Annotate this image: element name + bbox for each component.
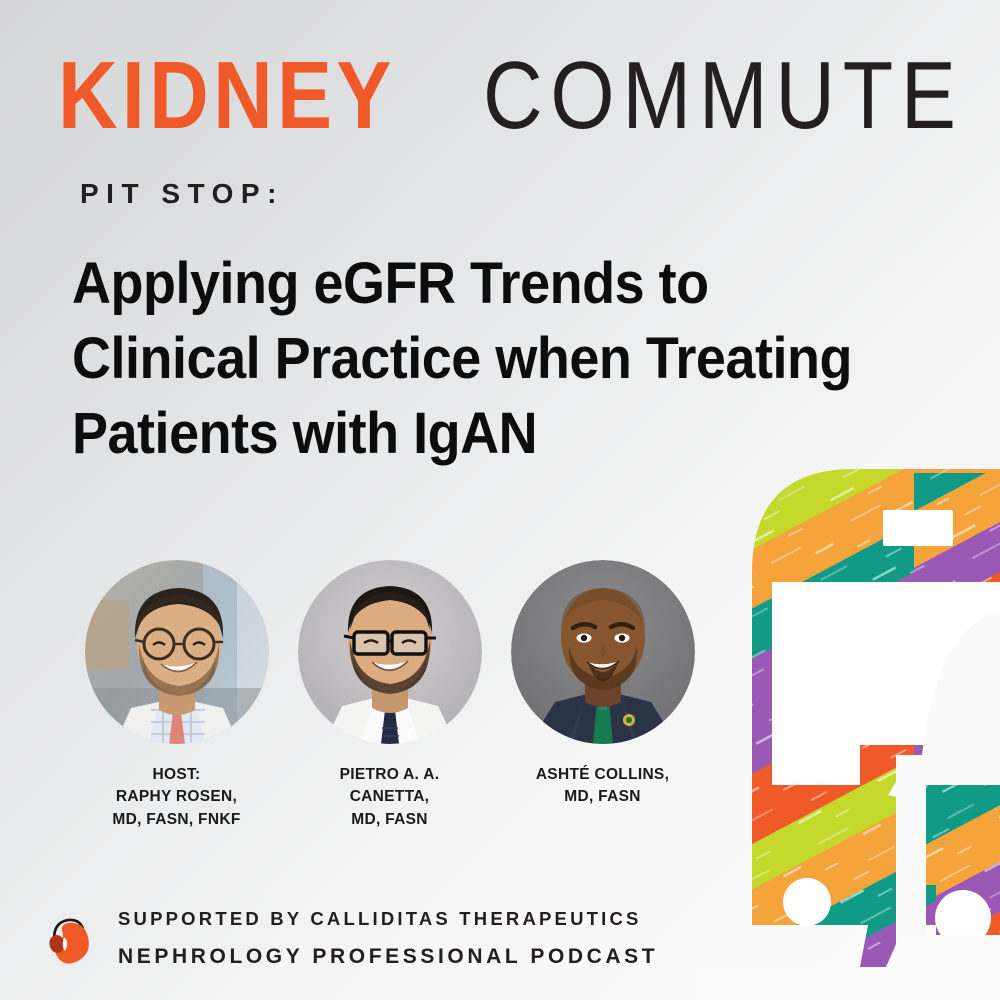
episode-title-line-1: Applying eGFR Trends to <box>72 247 909 322</box>
kidney-headphones-icon <box>40 909 102 971</box>
footer-tagline: NEPHROLOGY PROFESSIONAL PODCAST <box>118 937 658 978</box>
striped-train-graphic <box>700 455 1000 1000</box>
brand-word-kidney: KIDNEY <box>58 48 396 144</box>
eyebrow-label: PIT STOP: <box>80 178 284 210</box>
footer-text-block: SUPPORTED BY CALLIDITAS THERAPEUTICS NEP… <box>118 901 658 978</box>
brand-logotype: KIDNEYCOMMUTE <box>58 48 958 144</box>
speaker-card-raphy-rosen: HOST: RAPHY ROSEN, MD, FASN, FNKF <box>70 560 283 831</box>
portrait-raphy-rosen <box>85 560 269 744</box>
portrait-ashte-collins <box>511 560 695 744</box>
speaker-list: HOST: RAPHY ROSEN, MD, FASN, FNKF <box>70 560 710 831</box>
speaker-card-pietro-canetta: PIETRO A. A. CANETTA, MD, FASN <box>283 560 496 831</box>
portrait-pietro-canetta <box>298 560 482 744</box>
footer-sponsor-line: SUPPORTED BY CALLIDITAS THERAPEUTICS <box>118 901 658 937</box>
train-destination-sign <box>883 510 953 546</box>
speaker-name-raphy-rosen: HOST: RAPHY ROSEN, MD, FASN, FNKF <box>70 764 283 831</box>
brand-word-commute: COMMUTE <box>483 48 964 144</box>
train-baseline <box>700 935 1000 1000</box>
speaker-name-ashte-collins: ASHTÉ COLLINS, MD, FASN <box>496 764 709 809</box>
speaker-name-pietro-canetta: PIETRO A. A. CANETTA, MD, FASN <box>283 764 496 831</box>
episode-title: Applying eGFR Trends to Clinical Practic… <box>72 247 909 471</box>
footer: SUPPORTED BY CALLIDITAS THERAPEUTICS NEP… <box>40 901 658 978</box>
train-wheel-front <box>783 878 831 926</box>
podcast-episode-poster: KIDNEYCOMMUTE PIT STOP: Applying eGFR Tr… <box>0 0 1000 1000</box>
speaker-card-ashte-collins: ASHTÉ COLLINS, MD, FASN <box>496 560 709 831</box>
episode-title-line-2: Clinical Practice when Treating <box>72 322 909 397</box>
episode-title-line-3: Patients with IgAN <box>72 397 909 472</box>
